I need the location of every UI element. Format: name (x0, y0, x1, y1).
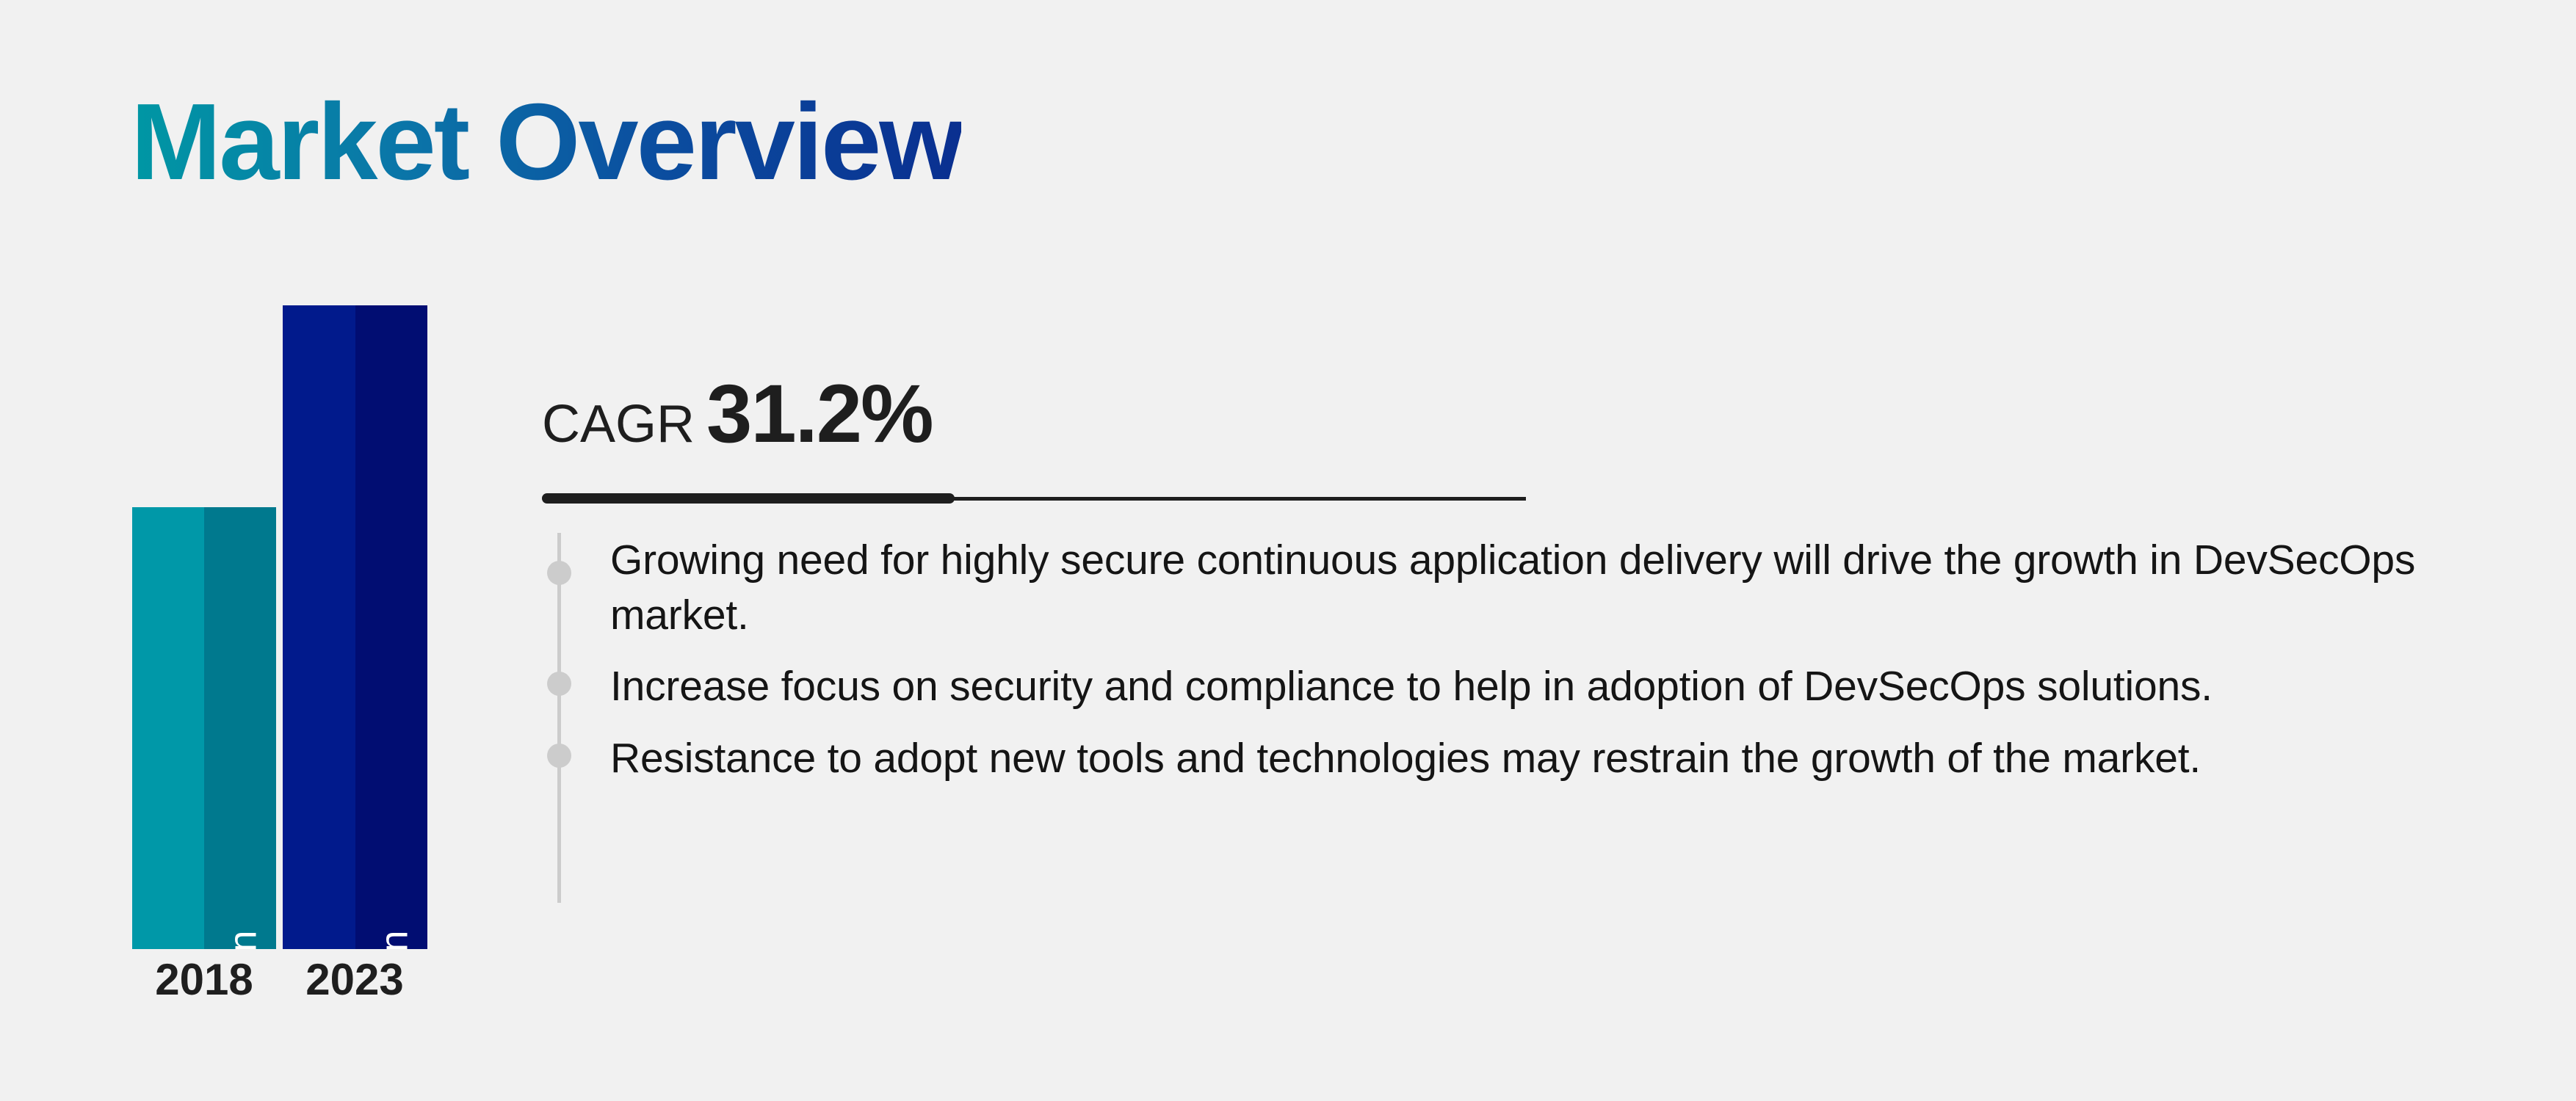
cagr-row: CAGR 31.2% (542, 373, 933, 476)
details-panel: CAGR 31.2% Growing need for highly secur… (542, 0, 2525, 1101)
list-item-text: Growing need for highly secure continuou… (610, 537, 2415, 639)
year-label-2023: 2023 (281, 958, 428, 1002)
bar-2023-value-label: USD 5.9 Million (375, 930, 414, 949)
bullet-list: Growing need for highly secure continuou… (542, 533, 2525, 786)
bar-2023-band-light (283, 305, 355, 949)
cagr-value: 31.2% (706, 373, 933, 455)
cagr-divider (542, 493, 1526, 504)
bar-2018: USD 1.5 Million (132, 507, 276, 949)
cagr-divider-thin (949, 497, 1526, 501)
list-item: Resistance to adopt new tools and techno… (542, 731, 2525, 786)
bullet-dot-icon (547, 561, 571, 585)
bar-2023-band-dark (355, 305, 428, 949)
bar-chart: USD 1.5 Million USD 5.9 Million 2018 202… (0, 0, 514, 1028)
bullet-dot-icon (547, 672, 571, 696)
bar-2023: USD 5.9 Million (283, 305, 427, 949)
list-item-text: Resistance to adopt new tools and techno… (610, 735, 2201, 782)
bar-2018-band-dark (204, 507, 276, 949)
list-item-text: Increase focus on security and complianc… (610, 663, 2213, 710)
year-label-2018: 2018 (131, 958, 278, 1002)
list-item: Growing need for highly secure continuou… (542, 533, 2525, 643)
cagr-divider-thick (542, 493, 955, 504)
bar-2018-value-label: USD 1.5 Million (224, 930, 263, 949)
bullet-dot-icon (547, 744, 571, 768)
bar-2018-band-light (132, 507, 204, 949)
cagr-label: CAGR (542, 398, 695, 451)
list-item: Increase focus on security and complianc… (542, 659, 2525, 714)
